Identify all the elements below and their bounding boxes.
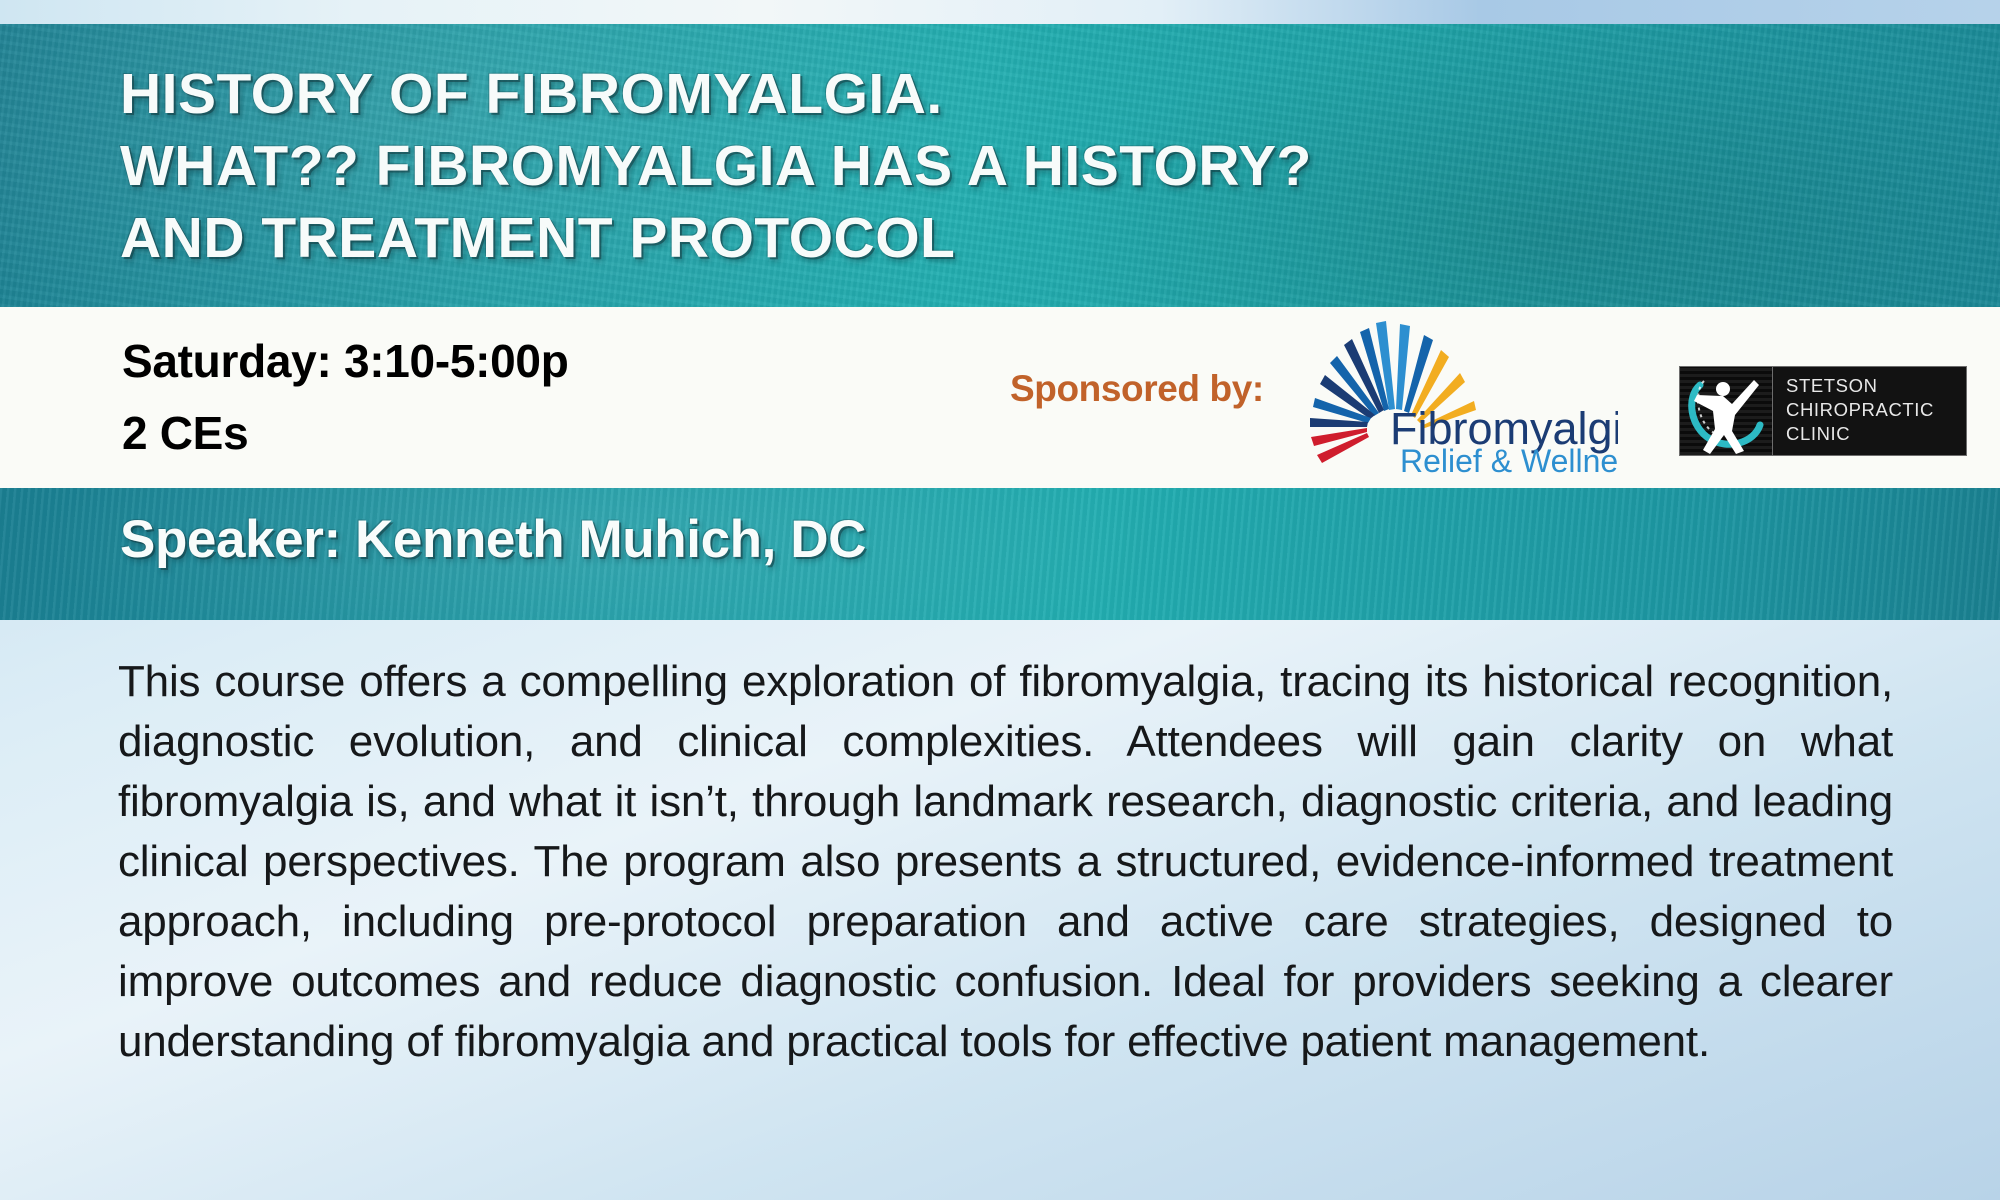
course-description: This course offers a compelling explorat… [118, 652, 1893, 1072]
title-line-1: HISTORY OF FIBROMYALGIA. [120, 58, 1312, 130]
relief-wellness-tagline: Relief & Wellness [1400, 443, 1618, 475]
title-band: HISTORY OF FIBROMYALGIA. WHAT?? FIBROMYA… [0, 24, 2000, 307]
schedule-info: Saturday: 3:10-5:00p 2 CEs [122, 325, 569, 469]
title-line-3: AND TREATMENT PROTOCOL [120, 202, 1312, 274]
slide-title: HISTORY OF FIBROMYALGIA. WHAT?? FIBROMYA… [120, 58, 1312, 274]
ce-credits: 2 CEs [122, 397, 569, 469]
fibromyalgia-relief-wellness-logo: Fibromyalgia Relief & Wellness [1308, 315, 1618, 475]
stetson-line-3: CLINIC [1786, 422, 1966, 446]
stetson-figure-icon [1680, 367, 1772, 455]
stetson-line-1: STETSON [1786, 374, 1966, 398]
course-slide: HISTORY OF FIBROMYALGIA. WHAT?? FIBROMYA… [0, 0, 2000, 1200]
description-area: This course offers a compelling explorat… [0, 620, 2000, 1200]
stetson-logo-text: STETSON CHIROPRACTIC CLINIC [1772, 367, 1966, 455]
speaker-name: Speaker: Kenneth Muhich, DC [120, 509, 866, 570]
speaker-band: Speaker: Kenneth Muhich, DC [0, 488, 2000, 620]
stetson-line-2: CHIROPRACTIC [1786, 398, 1966, 422]
stetson-chiropractic-clinic-logo: STETSON CHIROPRACTIC CLINIC [1679, 366, 1967, 456]
session-datetime: Saturday: 3:10-5:00p [122, 325, 569, 397]
top-gradient-strip [0, 0, 2000, 24]
sponsored-by-label: Sponsored by: [1010, 368, 1264, 410]
title-line-2: WHAT?? FIBROMYALGIA HAS A HISTORY? [120, 130, 1312, 202]
